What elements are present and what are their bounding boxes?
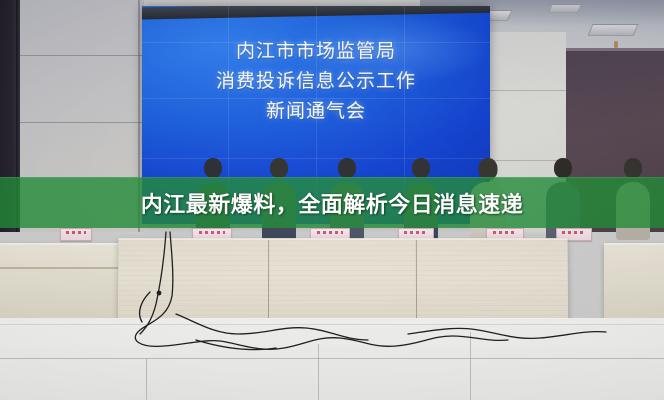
placard-name-text [199,231,225,234]
placard-name-text [66,231,86,234]
placard-name-text [404,231,427,234]
wall-seam [20,122,144,123]
desk-edge [0,267,122,269]
side-desk-left [0,243,122,323]
headline-text: 内江最新爆料，全面解析今日消息速递 [141,187,524,219]
headline-banner: 内江最新爆料，全面解析今日消息速递 [0,177,664,228]
floor-tile-line [0,358,664,359]
led-screen-text: 内江市市场监管局 消费投诉信息公示工作 新闻通气会 [142,36,490,126]
screenshot-root: 内江市市场监管局 消费投诉信息公示工作 新闻通气会 [0,0,664,400]
floor-gloss [0,318,664,348]
led-line-2: 消费投诉信息公示工作 [142,66,490,96]
participant-head [338,158,356,178]
sprinkler-icon [614,41,618,48]
floor-tile-line [318,344,319,400]
side-desk-right [604,243,664,323]
participant-head [412,158,430,178]
panel-highlight [566,48,664,51]
wall-seam [20,55,144,56]
floor-tile-line [146,358,147,400]
placard-name-text [317,231,343,234]
led-line-3: 新闻通气会 [142,96,490,126]
floor-tile-line [470,332,471,400]
ceiling-vent-icon [548,4,582,13]
participant-head [204,158,222,178]
wall-seam [488,90,566,91]
led-line-1: 内江市市场监管局 [142,36,490,66]
ceiling-vent-icon [588,24,639,36]
floor-tile-line [0,324,664,325]
participant-head [554,158,572,178]
tiled-floor [0,318,664,400]
placard-1 [60,228,92,241]
participant-head [624,158,642,178]
participant-head [270,158,288,178]
placard-name-text [562,231,585,234]
placard-name-text [493,231,517,234]
